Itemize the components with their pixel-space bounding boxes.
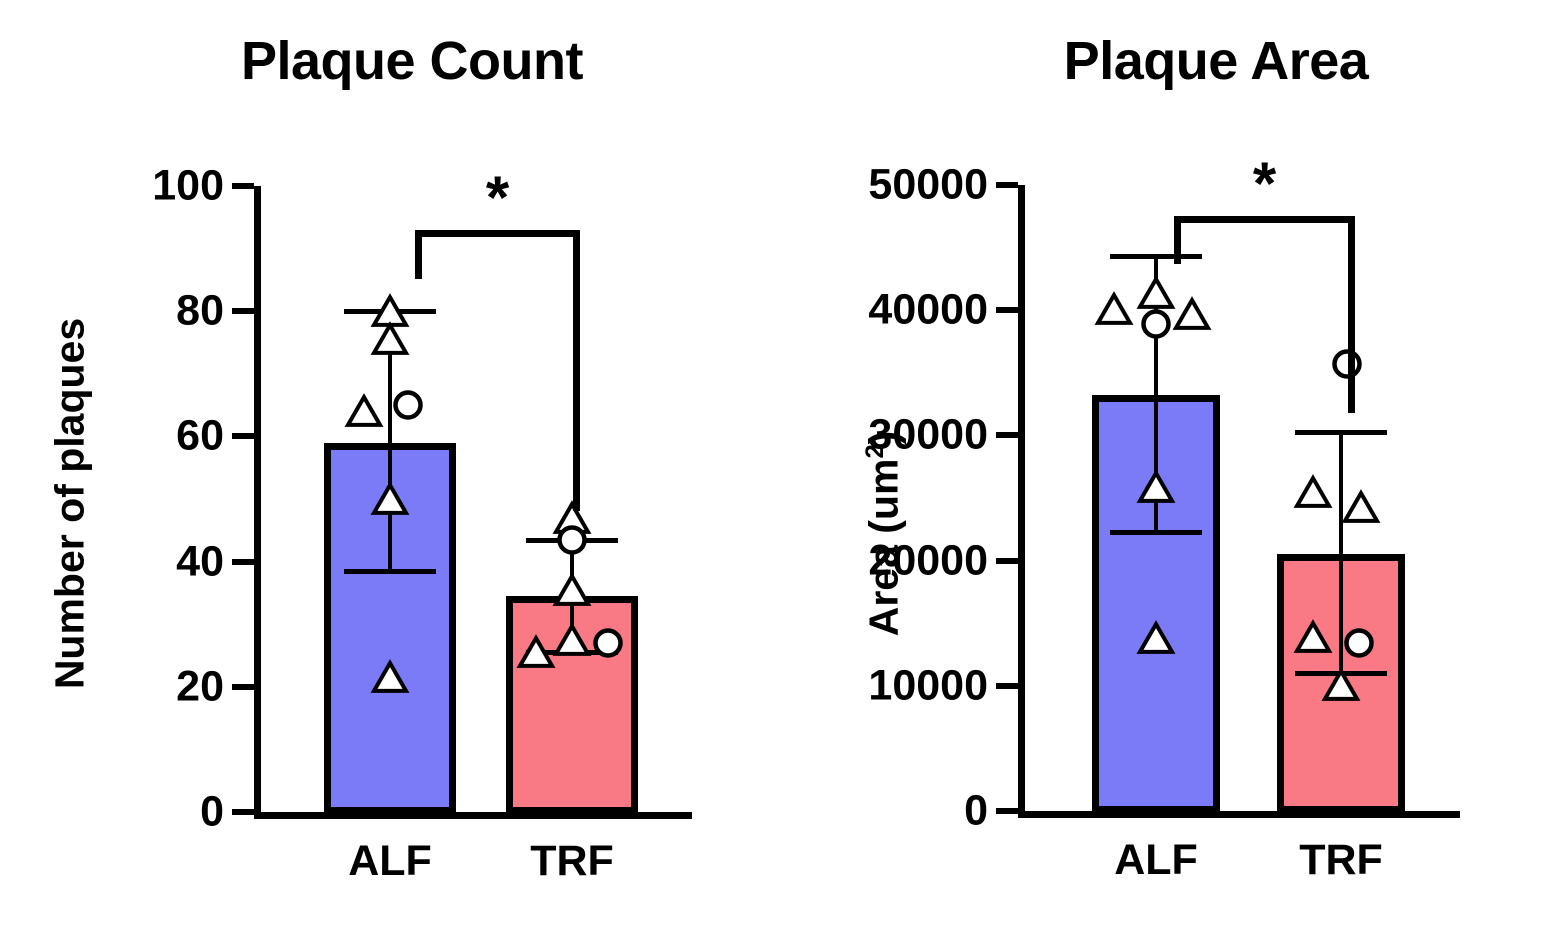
y-tick [996,683,1018,689]
data-point-triangle [1096,293,1132,325]
data-point-circle [1344,628,1374,658]
y-tick [996,808,1018,814]
data-point-triangle [1174,298,1210,330]
data-point-circle [1141,309,1171,339]
y-axis-line [254,186,261,819]
y-tick [232,684,254,690]
y-tick-label: 40 [24,540,224,583]
error-bar-cap-upper [1110,254,1202,259]
y-tick [996,182,1018,188]
panel-plaque-area: Plaque Area Area (um2) 01000020000300004… [784,0,1568,930]
data-point-circle [593,628,623,658]
x-tick-label-trf: TRF [1231,839,1451,882]
error-bar-cap-lower [344,569,436,574]
significance-asterisk: * [1253,154,1276,214]
data-point-triangle [518,637,554,669]
plot-area-plaque-count: 020406080100ALFTRF* [0,0,784,930]
data-point-triangle [1295,476,1331,508]
data-point-triangle [554,574,590,606]
data-point-triangle [554,624,590,656]
y-tick [232,433,254,439]
y-tick-label: 0 [753,790,988,833]
y-tick-label: 20000 [753,539,988,582]
data-point-triangle [1138,277,1174,309]
y-tick-label: 50000 [753,164,988,207]
data-point-triangle [372,662,408,694]
y-tick-label: 100 [24,165,224,208]
y-tick [996,432,1018,438]
data-point-triangle [1343,491,1379,523]
data-point-circle [393,390,423,420]
y-tick [996,307,1018,313]
significance-leg-left [415,230,422,279]
data-point-triangle [372,324,408,356]
y-tick [232,183,254,189]
y-tick-label: 10000 [753,664,988,707]
data-point-triangle [346,396,382,428]
significance-asterisk: * [486,168,509,228]
y-axis-line [1018,185,1025,818]
y-tick-label: 20 [24,665,224,708]
y-tick-label: 0 [24,791,224,834]
data-point-circle [557,525,587,555]
error-bar-cap-lower [1110,530,1202,535]
plot-area-plaque-area: 01000020000300004000050000ALFTRF* [784,0,1568,930]
y-tick-label: 40000 [753,289,988,332]
data-point-triangle [1323,669,1359,701]
significance-leg-right [573,230,580,511]
panel-plaque-count: Plaque Count Number of plaques 020406080… [0,0,784,930]
y-tick-label: 30000 [753,414,988,457]
y-tick-label: 60 [24,415,224,458]
significance-bar [1174,216,1355,223]
data-point-triangle [1295,621,1331,653]
y-tick [232,809,254,815]
y-tick-label: 80 [24,290,224,333]
y-tick [232,308,254,314]
error-bar-stem [1339,432,1343,674]
significance-leg-left [1174,216,1181,264]
error-bar-cap-upper [1295,430,1387,435]
data-point-triangle [372,483,408,515]
y-tick [232,559,254,565]
figure-root: Plaque Count Number of plaques 020406080… [0,0,1568,930]
y-tick [996,558,1018,564]
x-tick-label-trf: TRF [462,840,682,883]
significance-leg-right [1348,216,1355,413]
significance-bar [415,230,580,237]
data-point-circle [1332,349,1362,379]
data-point-triangle [1138,471,1174,503]
data-point-triangle [1138,622,1174,654]
